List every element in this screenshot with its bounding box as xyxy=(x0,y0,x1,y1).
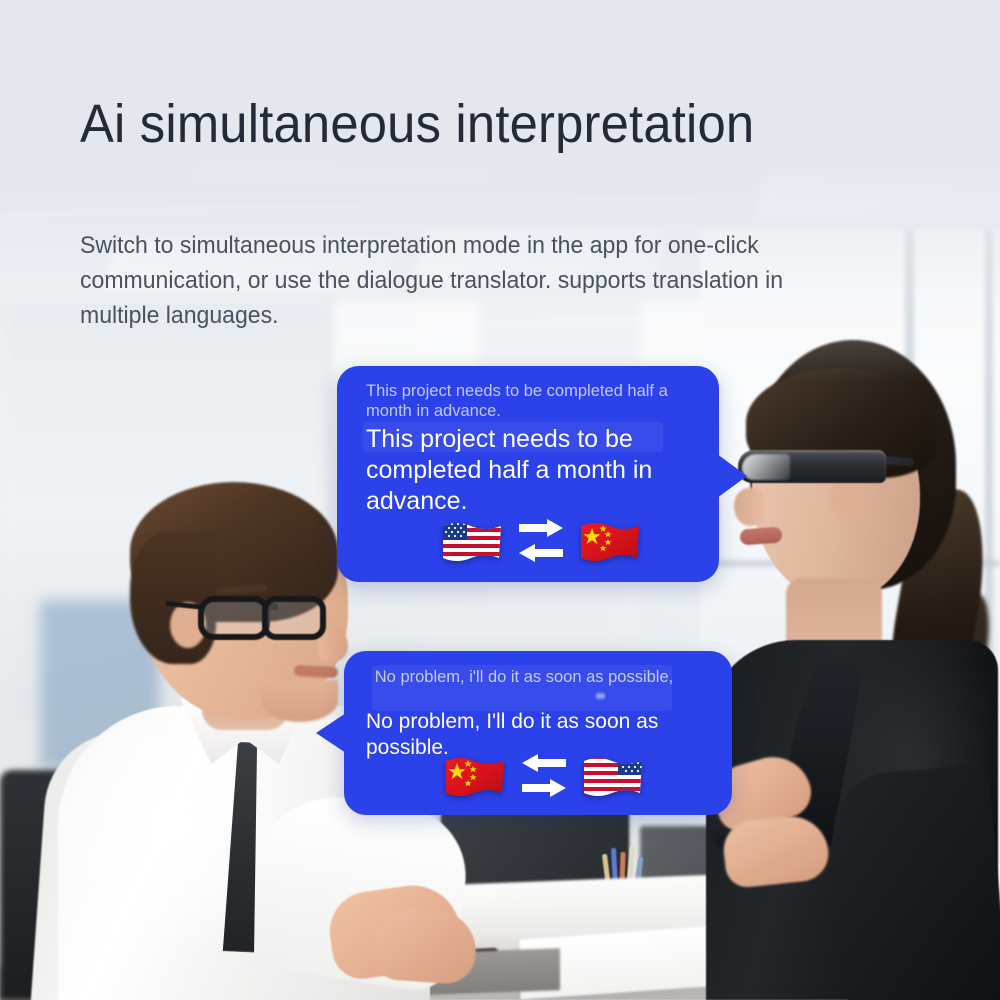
bubble-translated-text: This project needs to be completed half … xyxy=(366,424,686,517)
chat-bubble-man[interactable]: No problem, i'll do it as soon as possib… xyxy=(344,651,732,815)
arrow-right-icon xyxy=(519,519,563,537)
language-swap-row[interactable] xyxy=(444,753,644,797)
eyeglasses-icon xyxy=(198,596,354,642)
glasses-lens-reflection xyxy=(742,454,790,480)
arrow-right-icon xyxy=(522,779,566,797)
typing-dot xyxy=(596,693,605,699)
ceiling-light-panel xyxy=(754,170,1000,216)
promo-banner: Ai simultaneous interpretation Switch to… xyxy=(0,0,1000,1000)
chat-bubble-woman[interactable]: This project needs to be completed half … xyxy=(337,366,719,582)
bubble-source-text: No problem, i'll do it as soon as possib… xyxy=(374,667,674,687)
smart-glasses-icon xyxy=(738,450,886,490)
lips xyxy=(294,665,339,678)
direction-arrows xyxy=(522,754,566,797)
glasses-lens xyxy=(198,596,270,640)
ceiling-light-panel xyxy=(0,40,231,86)
lips xyxy=(739,527,782,546)
bubble-source-text: This project needs to be completed half … xyxy=(366,381,676,421)
language-swap-row[interactable] xyxy=(441,518,641,562)
page-title: Ai simultaneous interpretation xyxy=(80,93,754,155)
cn-flag-icon xyxy=(444,753,506,797)
blazer-sleeve xyxy=(829,764,1000,1000)
direction-arrows xyxy=(519,519,563,562)
bubble-tail-right xyxy=(717,454,747,498)
standing-woman xyxy=(700,340,1000,1000)
arrow-left-icon xyxy=(519,544,563,562)
page-subtitle: Switch to simultaneous interpretation mo… xyxy=(80,228,867,333)
bubble-tail-left xyxy=(316,713,346,753)
glasses-lens xyxy=(262,596,326,640)
cn-flag-icon xyxy=(579,518,641,562)
us-flag-icon xyxy=(582,753,644,797)
arrow-left-icon xyxy=(522,754,566,772)
us-flag-icon xyxy=(441,518,503,562)
